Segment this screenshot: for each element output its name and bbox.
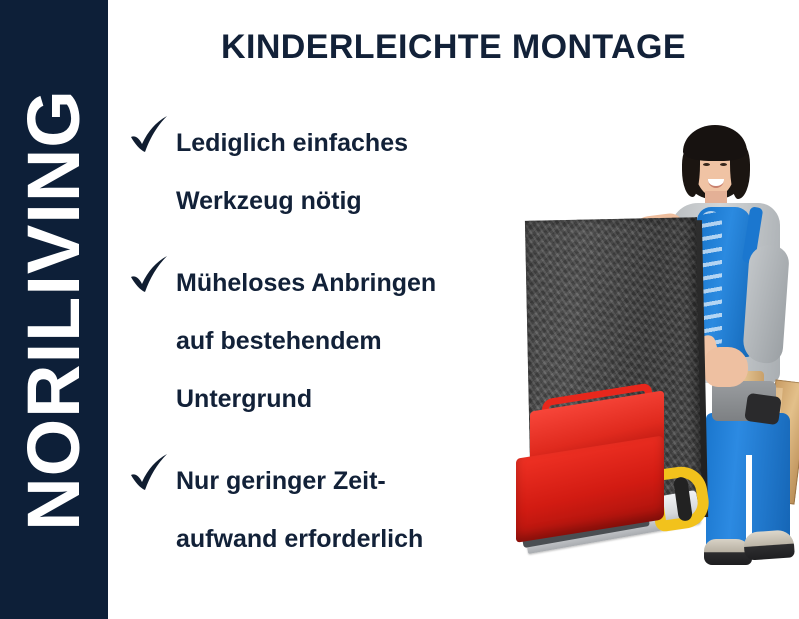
benefit-list: Lediglich einfaches Werkzeug nötig Mühel… xyxy=(128,112,518,568)
benefit-line: auf bestehendem xyxy=(176,327,382,355)
benefit-line: Lediglich einfaches xyxy=(176,129,408,157)
checkmark-icon xyxy=(128,452,176,504)
list-item-text: Müheloses Anbringen auf bestehendem Unte… xyxy=(176,252,518,428)
arm-right xyxy=(742,244,790,365)
page-title: KINDERLEICHTE MONTAGE xyxy=(108,28,799,67)
checkmark-icon xyxy=(128,114,176,166)
product-photo xyxy=(500,95,799,619)
brand-name: NORILIVING xyxy=(17,89,91,531)
benefit-line: aufwand erforderlich xyxy=(176,525,423,553)
list-item-text: Lediglich einfaches Werkzeug nötig xyxy=(176,112,518,230)
hair-fringe xyxy=(683,125,747,161)
list-item: Müheloses Anbringen auf bestehendem Unte… xyxy=(128,252,518,428)
promo-banner: NORILIVING KINDERLEICHTE MONTAGE Ledigli… xyxy=(0,0,799,619)
list-item: Lediglich einfaches Werkzeug nötig xyxy=(128,112,518,230)
benefit-line: Werkzeug nötig xyxy=(176,187,362,215)
shoe-right xyxy=(743,529,795,560)
benefit-line: Untergrund xyxy=(176,385,312,413)
list-item: Nur geringer Zeit- aufwand erforderlich xyxy=(128,450,518,568)
brand-sidebar: NORILIVING xyxy=(0,0,108,619)
benefit-line: Nur geringer Zeit- xyxy=(176,467,386,495)
list-item-text: Nur geringer Zeit- aufwand erforderlich xyxy=(176,450,518,568)
benefit-line: Müheloses Anbringen xyxy=(176,269,436,297)
eye-left xyxy=(703,163,710,166)
tool-belt-holster xyxy=(744,393,782,425)
checkmark-icon xyxy=(128,254,176,306)
thumbs-up-hand xyxy=(704,347,748,387)
eye-right xyxy=(720,163,727,166)
